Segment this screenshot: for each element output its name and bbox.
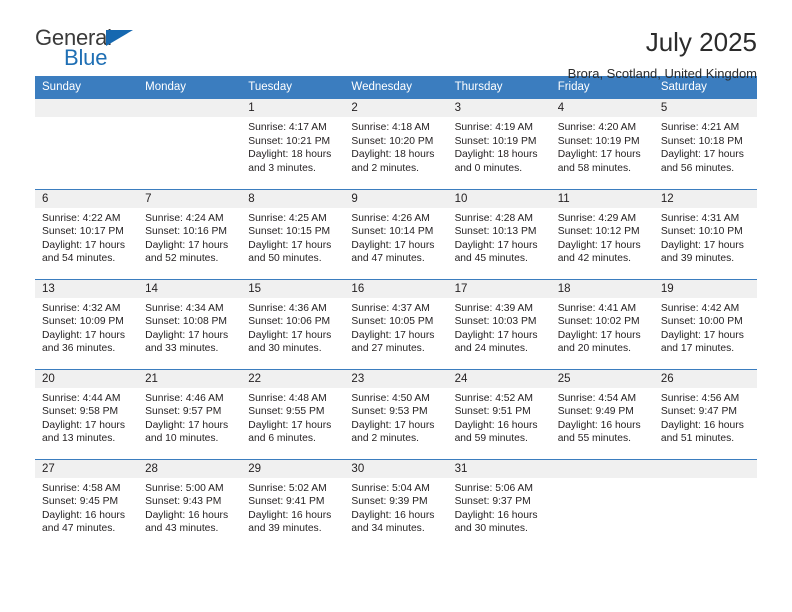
day-details: Sunrise: 4:36 AMSunset: 10:06 PMDaylight… — [241, 298, 344, 356]
daylight-text-line2: and 36 minutes. — [42, 342, 132, 356]
sunrise-text: Sunrise: 4:21 AM — [661, 121, 751, 135]
sunset-text: Sunset: 10:02 PM — [558, 315, 648, 329]
daylight-text-line1: Daylight: 17 hours — [248, 239, 338, 253]
calendar-day-cell[interactable]: 9Sunrise: 4:26 AMSunset: 10:14 PMDayligh… — [344, 189, 447, 279]
day-number: 10 — [448, 190, 551, 208]
daylight-text-line1: Daylight: 16 hours — [455, 509, 545, 523]
daylight-text-line2: and 34 minutes. — [351, 522, 441, 536]
calendar-week-row: 1Sunrise: 4:17 AMSunset: 10:21 PMDayligh… — [35, 99, 757, 189]
calendar-day-cell[interactable]: 28Sunrise: 5:00 AMSunset: 9:43 PMDayligh… — [138, 459, 241, 549]
daylight-text-line2: and 50 minutes. — [248, 252, 338, 266]
daylight-text-line2: and 45 minutes. — [455, 252, 545, 266]
day-number: 22 — [241, 370, 344, 388]
daylight-text-line1: Daylight: 17 hours — [145, 419, 235, 433]
day-number: 25 — [551, 370, 654, 388]
day-number: 31 — [448, 460, 551, 478]
daylight-text-line2: and 30 minutes. — [455, 522, 545, 536]
calendar-day-cell[interactable]: 12Sunrise: 4:31 AMSunset: 10:10 PMDaylig… — [654, 189, 757, 279]
day-details: Sunrise: 4:52 AMSunset: 9:51 PMDaylight:… — [448, 388, 551, 446]
calendar-week-row: 27Sunrise: 4:58 AMSunset: 9:45 PMDayligh… — [35, 459, 757, 549]
sunset-text: Sunset: 9:45 PM — [42, 495, 132, 509]
daylight-text-line2: and 33 minutes. — [145, 342, 235, 356]
daylight-text-line1: Daylight: 16 hours — [661, 419, 751, 433]
sunrise-text: Sunrise: 4:50 AM — [351, 392, 441, 406]
daylight-text-line2: and 55 minutes. — [558, 432, 648, 446]
day-details: Sunrise: 4:46 AMSunset: 9:57 PMDaylight:… — [138, 388, 241, 446]
day-details: Sunrise: 4:18 AMSunset: 10:20 PMDaylight… — [344, 117, 447, 175]
calendar-day-cell-empty — [35, 99, 138, 189]
day-details: Sunrise: 4:54 AMSunset: 9:49 PMDaylight:… — [551, 388, 654, 446]
sunset-text: Sunset: 9:58 PM — [42, 405, 132, 419]
daylight-text-line1: Daylight: 17 hours — [558, 329, 648, 343]
daylight-text-line2: and 27 minutes. — [351, 342, 441, 356]
daylight-text-line2: and 6 minutes. — [248, 432, 338, 446]
calendar-day-cell-empty — [654, 459, 757, 549]
calendar-week-row: 13Sunrise: 4:32 AMSunset: 10:09 PMDaylig… — [35, 279, 757, 369]
sunset-text: Sunset: 9:51 PM — [455, 405, 545, 419]
sunrise-text: Sunrise: 4:29 AM — [558, 212, 648, 226]
day-details: Sunrise: 4:21 AMSunset: 10:18 PMDaylight… — [654, 117, 757, 175]
sunset-text: Sunset: 9:39 PM — [351, 495, 441, 509]
calendar-day-cell[interactable]: 27Sunrise: 4:58 AMSunset: 9:45 PMDayligh… — [35, 459, 138, 549]
daylight-text-line1: Daylight: 18 hours — [455, 148, 545, 162]
sunrise-text: Sunrise: 4:22 AM — [42, 212, 132, 226]
sunrise-text: Sunrise: 4:36 AM — [248, 302, 338, 316]
calendar-day-cell[interactable]: 29Sunrise: 5:02 AMSunset: 9:41 PMDayligh… — [241, 459, 344, 549]
sunrise-text: Sunrise: 4:39 AM — [455, 302, 545, 316]
daylight-text-line1: Daylight: 17 hours — [661, 239, 751, 253]
day-number: 8 — [241, 190, 344, 208]
day-number: 4 — [551, 99, 654, 117]
day-number: 28 — [138, 460, 241, 478]
daylight-text-line1: Daylight: 17 hours — [351, 329, 441, 343]
daylight-text-line2: and 24 minutes. — [455, 342, 545, 356]
daylight-text-line1: Daylight: 17 hours — [455, 239, 545, 253]
daylight-text-line1: Daylight: 17 hours — [145, 239, 235, 253]
sunset-text: Sunset: 9:43 PM — [145, 495, 235, 509]
daylight-text-line2: and 2 minutes. — [351, 162, 441, 176]
daylight-text-line2: and 10 minutes. — [145, 432, 235, 446]
day-details: Sunrise: 4:28 AMSunset: 10:13 PMDaylight… — [448, 208, 551, 266]
day-details: Sunrise: 4:26 AMSunset: 10:14 PMDaylight… — [344, 208, 447, 266]
daylight-text-line1: Daylight: 18 hours — [351, 148, 441, 162]
day-details: Sunrise: 4:22 AMSunset: 10:17 PMDaylight… — [35, 208, 138, 266]
daylight-text-line1: Daylight: 17 hours — [351, 419, 441, 433]
daylight-text-line2: and 13 minutes. — [42, 432, 132, 446]
sunrise-text: Sunrise: 4:46 AM — [145, 392, 235, 406]
day-details: Sunrise: 4:44 AMSunset: 9:58 PMDaylight:… — [35, 388, 138, 446]
daylight-text-line1: Daylight: 16 hours — [558, 419, 648, 433]
day-number: 21 — [138, 370, 241, 388]
calendar-day-cell[interactable]: 1Sunrise: 4:17 AMSunset: 10:21 PMDayligh… — [241, 99, 344, 189]
daylight-text-line1: Daylight: 17 hours — [558, 148, 648, 162]
daylight-text-line1: Daylight: 17 hours — [42, 419, 132, 433]
sunrise-text: Sunrise: 4:41 AM — [558, 302, 648, 316]
day-details: Sunrise: 4:32 AMSunset: 10:09 PMDaylight… — [35, 298, 138, 356]
daylight-text-line1: Daylight: 17 hours — [558, 239, 648, 253]
daylight-text-line2: and 3 minutes. — [248, 162, 338, 176]
calendar-day-cell[interactable]: 3Sunrise: 4:19 AMSunset: 10:19 PMDayligh… — [448, 99, 551, 189]
day-number — [35, 99, 138, 117]
page-subtitle: Brora, Scotland, United Kingdom — [568, 66, 757, 81]
calendar-day-cell[interactable]: 6Sunrise: 4:22 AMSunset: 10:17 PMDayligh… — [35, 189, 138, 279]
sunrise-text: Sunrise: 5:00 AM — [145, 482, 235, 496]
day-number: 23 — [344, 370, 447, 388]
calendar-day-cell[interactable]: 22Sunrise: 4:48 AMSunset: 9:55 PMDayligh… — [241, 369, 344, 459]
daylight-text-line1: Daylight: 17 hours — [455, 329, 545, 343]
day-number: 24 — [448, 370, 551, 388]
daylight-text-line2: and 47 minutes. — [351, 252, 441, 266]
day-details: Sunrise: 4:34 AMSunset: 10:08 PMDaylight… — [138, 298, 241, 356]
calendar-day-cell[interactable]: 2Sunrise: 4:18 AMSunset: 10:20 PMDayligh… — [344, 99, 447, 189]
daylight-text-line1: Daylight: 17 hours — [42, 239, 132, 253]
day-number — [551, 460, 654, 478]
calendar-day-cell[interactable]: 13Sunrise: 4:32 AMSunset: 10:09 PMDaylig… — [35, 279, 138, 369]
daylight-text-line2: and 20 minutes. — [558, 342, 648, 356]
day-number: 2 — [344, 99, 447, 117]
daylight-text-line2: and 2 minutes. — [351, 432, 441, 446]
daylight-text-line2: and 30 minutes. — [248, 342, 338, 356]
day-details: Sunrise: 5:04 AMSunset: 9:39 PMDaylight:… — [344, 478, 447, 536]
sunset-text: Sunset: 10:10 PM — [661, 225, 751, 239]
day-number: 27 — [35, 460, 138, 478]
logo-text-blue: Blue — [64, 47, 140, 69]
day-details: Sunrise: 4:58 AMSunset: 9:45 PMDaylight:… — [35, 478, 138, 536]
daylight-text-line1: Daylight: 17 hours — [248, 329, 338, 343]
day-number: 7 — [138, 190, 241, 208]
daylight-text-line2: and 58 minutes. — [558, 162, 648, 176]
sunset-text: Sunset: 10:16 PM — [145, 225, 235, 239]
calendar-day-cell[interactable]: 16Sunrise: 4:37 AMSunset: 10:05 PMDaylig… — [344, 279, 447, 369]
sunset-text: Sunset: 10:18 PM — [661, 135, 751, 149]
daylight-text-line2: and 54 minutes. — [42, 252, 132, 266]
sunrise-text: Sunrise: 4:26 AM — [351, 212, 441, 226]
day-number: 11 — [551, 190, 654, 208]
calendar-day-cell[interactable]: 25Sunrise: 4:54 AMSunset: 9:49 PMDayligh… — [551, 369, 654, 459]
sunrise-text: Sunrise: 4:31 AM — [661, 212, 751, 226]
day-number: 13 — [35, 280, 138, 298]
sunset-text: Sunset: 10:15 PM — [248, 225, 338, 239]
sunset-text: Sunset: 9:53 PM — [351, 405, 441, 419]
sunrise-text: Sunrise: 4:52 AM — [455, 392, 545, 406]
sunset-text: Sunset: 10:12 PM — [558, 225, 648, 239]
calendar-day-cell-empty — [138, 99, 241, 189]
day-details: Sunrise: 5:00 AMSunset: 9:43 PMDaylight:… — [138, 478, 241, 536]
sunset-text: Sunset: 10:21 PM — [248, 135, 338, 149]
sunset-text: Sunset: 10:00 PM — [661, 315, 751, 329]
calendar-day-cell[interactable]: 11Sunrise: 4:29 AMSunset: 10:12 PMDaylig… — [551, 189, 654, 279]
daylight-text-line1: Daylight: 17 hours — [661, 329, 751, 343]
sunset-text: Sunset: 10:03 PM — [455, 315, 545, 329]
day-details: Sunrise: 4:50 AMSunset: 9:53 PMDaylight:… — [344, 388, 447, 446]
sunrise-text: Sunrise: 4:20 AM — [558, 121, 648, 135]
weekday-header-monday: Monday — [138, 76, 241, 99]
sunrise-text: Sunrise: 4:18 AM — [351, 121, 441, 135]
sunrise-text: Sunrise: 4:37 AM — [351, 302, 441, 316]
daylight-text-line2: and 56 minutes. — [661, 162, 751, 176]
daylight-text-line1: Daylight: 16 hours — [455, 419, 545, 433]
day-number: 1 — [241, 99, 344, 117]
sunset-text: Sunset: 10:06 PM — [248, 315, 338, 329]
daylight-text-line1: Daylight: 17 hours — [351, 239, 441, 253]
calendar-day-cell[interactable]: 21Sunrise: 4:46 AMSunset: 9:57 PMDayligh… — [138, 369, 241, 459]
day-details: Sunrise: 4:17 AMSunset: 10:21 PMDaylight… — [241, 117, 344, 175]
sunset-text: Sunset: 10:19 PM — [455, 135, 545, 149]
day-details: Sunrise: 4:24 AMSunset: 10:16 PMDaylight… — [138, 208, 241, 266]
calendar-day-cell[interactable]: 24Sunrise: 4:52 AMSunset: 9:51 PMDayligh… — [448, 369, 551, 459]
day-number: 26 — [654, 370, 757, 388]
daylight-text-line1: Daylight: 17 hours — [661, 148, 751, 162]
calendar-day-cell[interactable]: 15Sunrise: 4:36 AMSunset: 10:06 PMDaylig… — [241, 279, 344, 369]
daylight-text-line2: and 0 minutes. — [455, 162, 545, 176]
day-number: 20 — [35, 370, 138, 388]
sunrise-text: Sunrise: 4:58 AM — [42, 482, 132, 496]
day-number: 29 — [241, 460, 344, 478]
calendar-day-cell[interactable]: 26Sunrise: 4:56 AMSunset: 9:47 PMDayligh… — [654, 369, 757, 459]
daylight-text-line2: and 43 minutes. — [145, 522, 235, 536]
daylight-text-line1: Daylight: 16 hours — [248, 509, 338, 523]
daylight-text-line1: Daylight: 18 hours — [248, 148, 338, 162]
daylight-text-line2: and 47 minutes. — [42, 522, 132, 536]
day-details: Sunrise: 5:06 AMSunset: 9:37 PMDaylight:… — [448, 478, 551, 536]
daylight-text-line1: Daylight: 17 hours — [248, 419, 338, 433]
day-details: Sunrise: 4:29 AMSunset: 10:12 PMDaylight… — [551, 208, 654, 266]
calendar-day-cell[interactable]: 10Sunrise: 4:28 AMSunset: 10:13 PMDaylig… — [448, 189, 551, 279]
day-details: Sunrise: 4:25 AMSunset: 10:15 PMDaylight… — [241, 208, 344, 266]
sunrise-text: Sunrise: 4:54 AM — [558, 392, 648, 406]
sunrise-text: Sunrise: 4:34 AM — [145, 302, 235, 316]
sunset-text: Sunset: 9:41 PM — [248, 495, 338, 509]
calendar-day-cell[interactable]: 8Sunrise: 4:25 AMSunset: 10:15 PMDayligh… — [241, 189, 344, 279]
daylight-text-line2: and 39 minutes. — [661, 252, 751, 266]
day-details: Sunrise: 4:39 AMSunset: 10:03 PMDaylight… — [448, 298, 551, 356]
sunset-text: Sunset: 9:55 PM — [248, 405, 338, 419]
weekday-header-tuesday: Tuesday — [241, 76, 344, 99]
calendar-day-cell[interactable]: 17Sunrise: 4:39 AMSunset: 10:03 PMDaylig… — [448, 279, 551, 369]
day-details: Sunrise: 4:20 AMSunset: 10:19 PMDaylight… — [551, 117, 654, 175]
calendar-day-cell[interactable]: 7Sunrise: 4:24 AMSunset: 10:16 PMDayligh… — [138, 189, 241, 279]
page-title: July 2025 — [568, 29, 757, 56]
calendar-day-cell[interactable]: 23Sunrise: 4:50 AMSunset: 9:53 PMDayligh… — [344, 369, 447, 459]
day-number: 30 — [344, 460, 447, 478]
general-blue-logo: General Blue — [35, 27, 140, 75]
daylight-text-line2: and 17 minutes. — [661, 342, 751, 356]
calendar-body: 1Sunrise: 4:17 AMSunset: 10:21 PMDayligh… — [35, 99, 757, 549]
sunset-text: Sunset: 10:08 PM — [145, 315, 235, 329]
calendar-day-cell[interactable]: 18Sunrise: 4:41 AMSunset: 10:02 PMDaylig… — [551, 279, 654, 369]
sunrise-text: Sunrise: 4:32 AM — [42, 302, 132, 316]
calendar-day-cell[interactable]: 31Sunrise: 5:06 AMSunset: 9:37 PMDayligh… — [448, 459, 551, 549]
sunrise-text: Sunrise: 4:48 AM — [248, 392, 338, 406]
sunrise-text: Sunrise: 5:04 AM — [351, 482, 441, 496]
calendar-day-cell[interactable]: 30Sunrise: 5:04 AMSunset: 9:39 PMDayligh… — [344, 459, 447, 549]
day-details: Sunrise: 4:41 AMSunset: 10:02 PMDaylight… — [551, 298, 654, 356]
sunrise-text: Sunrise: 4:28 AM — [455, 212, 545, 226]
sunrise-text: Sunrise: 5:06 AM — [455, 482, 545, 496]
day-number: 5 — [654, 99, 757, 117]
day-details: Sunrise: 4:31 AMSunset: 10:10 PMDaylight… — [654, 208, 757, 266]
day-details: Sunrise: 4:48 AMSunset: 9:55 PMDaylight:… — [241, 388, 344, 446]
calendar-week-row: 20Sunrise: 4:44 AMSunset: 9:58 PMDayligh… — [35, 369, 757, 459]
day-number: 15 — [241, 280, 344, 298]
sunrise-text: Sunrise: 4:42 AM — [661, 302, 751, 316]
sunset-text: Sunset: 9:37 PM — [455, 495, 545, 509]
calendar-day-cell[interactable]: 4Sunrise: 4:20 AMSunset: 10:19 PMDayligh… — [551, 99, 654, 189]
sunset-text: Sunset: 9:49 PM — [558, 405, 648, 419]
calendar-day-cell[interactable]: 20Sunrise: 4:44 AMSunset: 9:58 PMDayligh… — [35, 369, 138, 459]
daylight-text-line2: and 39 minutes. — [248, 522, 338, 536]
calendar-day-cell[interactable]: 14Sunrise: 4:34 AMSunset: 10:08 PMDaylig… — [138, 279, 241, 369]
day-number — [138, 99, 241, 117]
calendar-day-cell-empty — [551, 459, 654, 549]
calendar-day-cell[interactable]: 5Sunrise: 4:21 AMSunset: 10:18 PMDayligh… — [654, 99, 757, 189]
sunset-text: Sunset: 10:20 PM — [351, 135, 441, 149]
sunset-text: Sunset: 10:05 PM — [351, 315, 441, 329]
daylight-text-line1: Daylight: 17 hours — [145, 329, 235, 343]
sunset-text: Sunset: 10:17 PM — [42, 225, 132, 239]
sunset-text: Sunset: 9:57 PM — [145, 405, 235, 419]
sunrise-text: Sunrise: 4:44 AM — [42, 392, 132, 406]
day-number: 3 — [448, 99, 551, 117]
page-header: General Blue July 2025 Brora, Scotland, … — [35, 0, 757, 68]
sunset-text: Sunset: 9:47 PM — [661, 405, 751, 419]
weekday-header-sunday: Sunday — [35, 76, 138, 99]
sunrise-text: Sunrise: 4:56 AM — [661, 392, 751, 406]
calendar-day-cell[interactable]: 19Sunrise: 4:42 AMSunset: 10:00 PMDaylig… — [654, 279, 757, 369]
day-number — [654, 460, 757, 478]
sunrise-text: Sunrise: 4:17 AM — [248, 121, 338, 135]
sunset-text: Sunset: 10:09 PM — [42, 315, 132, 329]
title-block: July 2025 Brora, Scotland, United Kingdo… — [568, 27, 757, 81]
day-details: Sunrise: 4:37 AMSunset: 10:05 PMDaylight… — [344, 298, 447, 356]
day-number: 18 — [551, 280, 654, 298]
sunset-text: Sunset: 10:19 PM — [558, 135, 648, 149]
sunrise-text: Sunrise: 5:02 AM — [248, 482, 338, 496]
weekday-header-thursday: Thursday — [448, 76, 551, 99]
sunset-text: Sunset: 10:13 PM — [455, 225, 545, 239]
logo-triangle-icon — [106, 30, 133, 46]
calendar-table: SundayMondayTuesdayWednesdayThursdayFrid… — [35, 76, 757, 549]
daylight-text-line1: Daylight: 16 hours — [351, 509, 441, 523]
day-details: Sunrise: 5:02 AMSunset: 9:41 PMDaylight:… — [241, 478, 344, 536]
daylight-text-line2: and 52 minutes. — [145, 252, 235, 266]
sunrise-text: Sunrise: 4:25 AM — [248, 212, 338, 226]
sunrise-text: Sunrise: 4:24 AM — [145, 212, 235, 226]
day-number: 16 — [344, 280, 447, 298]
calendar-page: General Blue July 2025 Brora, Scotland, … — [0, 0, 792, 612]
daylight-text-line2: and 59 minutes. — [455, 432, 545, 446]
day-number: 6 — [35, 190, 138, 208]
daylight-text-line1: Daylight: 16 hours — [42, 509, 132, 523]
weekday-header-wednesday: Wednesday — [344, 76, 447, 99]
day-number: 17 — [448, 280, 551, 298]
daylight-text-line2: and 42 minutes. — [558, 252, 648, 266]
daylight-text-line1: Daylight: 17 hours — [42, 329, 132, 343]
daylight-text-line2: and 51 minutes. — [661, 432, 751, 446]
sunset-text: Sunset: 10:14 PM — [351, 225, 441, 239]
day-details: Sunrise: 4:19 AMSunset: 10:19 PMDaylight… — [448, 117, 551, 175]
calendar-week-row: 6Sunrise: 4:22 AMSunset: 10:17 PMDayligh… — [35, 189, 757, 279]
daylight-text-line1: Daylight: 16 hours — [145, 509, 235, 523]
sunrise-text: Sunrise: 4:19 AM — [455, 121, 545, 135]
day-details: Sunrise: 4:56 AMSunset: 9:47 PMDaylight:… — [654, 388, 757, 446]
day-details: Sunrise: 4:42 AMSunset: 10:00 PMDaylight… — [654, 298, 757, 356]
day-number: 9 — [344, 190, 447, 208]
day-number: 14 — [138, 280, 241, 298]
day-number: 12 — [654, 190, 757, 208]
day-number: 19 — [654, 280, 757, 298]
